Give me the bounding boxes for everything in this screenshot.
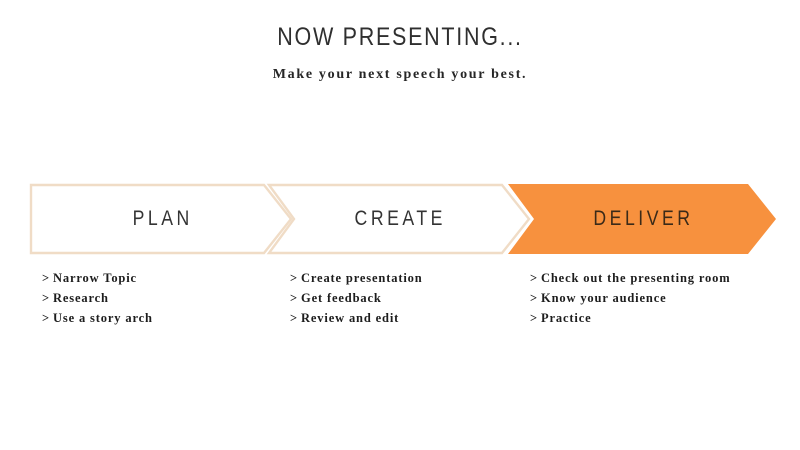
chevron-stage-deliver[interactable]: DELIVER (508, 184, 776, 254)
list-item-label: Practice (541, 311, 592, 325)
list-item-label: Know your audience (541, 291, 667, 305)
chevron-stage-plan[interactable]: PLAN (30, 184, 292, 254)
bullet-marker-icon: > (530, 288, 541, 308)
chevron-label-deliver: DELIVER (590, 207, 694, 231)
slide-canvas: NOW PRESENTING... Make your next speech … (0, 0, 800, 450)
list-item: >Check out the presenting room (530, 268, 795, 288)
slide-header: NOW PRESENTING... Make your next speech … (0, 22, 800, 84)
list-item: >Use a story arch (42, 308, 282, 328)
chevron-label-create: CREATE (352, 207, 447, 231)
list-item-label: Get feedback (301, 291, 382, 305)
list-item-label: Use a story arch (53, 311, 153, 325)
stage-detail-lists: >Narrow Topic >Research >Use a story arc… (0, 268, 800, 338)
list-plan: >Narrow Topic >Research >Use a story arc… (42, 268, 282, 328)
bullet-marker-icon: > (42, 308, 53, 328)
chevron-label-plan: PLAN (129, 207, 193, 231)
bullet-marker-icon: > (530, 268, 541, 288)
page-subtitle: Make your next speech your best. (0, 52, 800, 84)
list-create: >Create presentation >Get feedback >Revi… (290, 268, 530, 328)
bullet-marker-icon: > (530, 308, 541, 328)
bullet-marker-icon: > (42, 288, 53, 308)
list-item-label: Create presentation (301, 271, 423, 285)
bullet-marker-icon: > (290, 288, 301, 308)
bullet-marker-icon: > (290, 308, 301, 328)
chevron-stage-create[interactable]: CREATE (268, 184, 530, 254)
list-deliver: >Check out the presenting room >Know you… (530, 268, 795, 328)
page-title: NOW PRESENTING... (56, 22, 744, 52)
list-item-label: Research (53, 291, 109, 305)
process-chevron-band: PLAN CREATE DELIVER (0, 184, 800, 258)
list-item: >Research (42, 288, 282, 308)
list-item: >Know your audience (530, 288, 795, 308)
list-item: >Practice (530, 308, 795, 328)
list-item: >Create presentation (290, 268, 530, 288)
list-item: >Get feedback (290, 288, 530, 308)
bullet-marker-icon: > (42, 268, 53, 288)
bullet-marker-icon: > (290, 268, 301, 288)
list-item: >Narrow Topic (42, 268, 282, 288)
list-item-label: Review and edit (301, 311, 399, 325)
list-item-label: Check out the presenting room (541, 271, 730, 285)
list-item: >Review and edit (290, 308, 530, 328)
list-item-label: Narrow Topic (53, 271, 137, 285)
